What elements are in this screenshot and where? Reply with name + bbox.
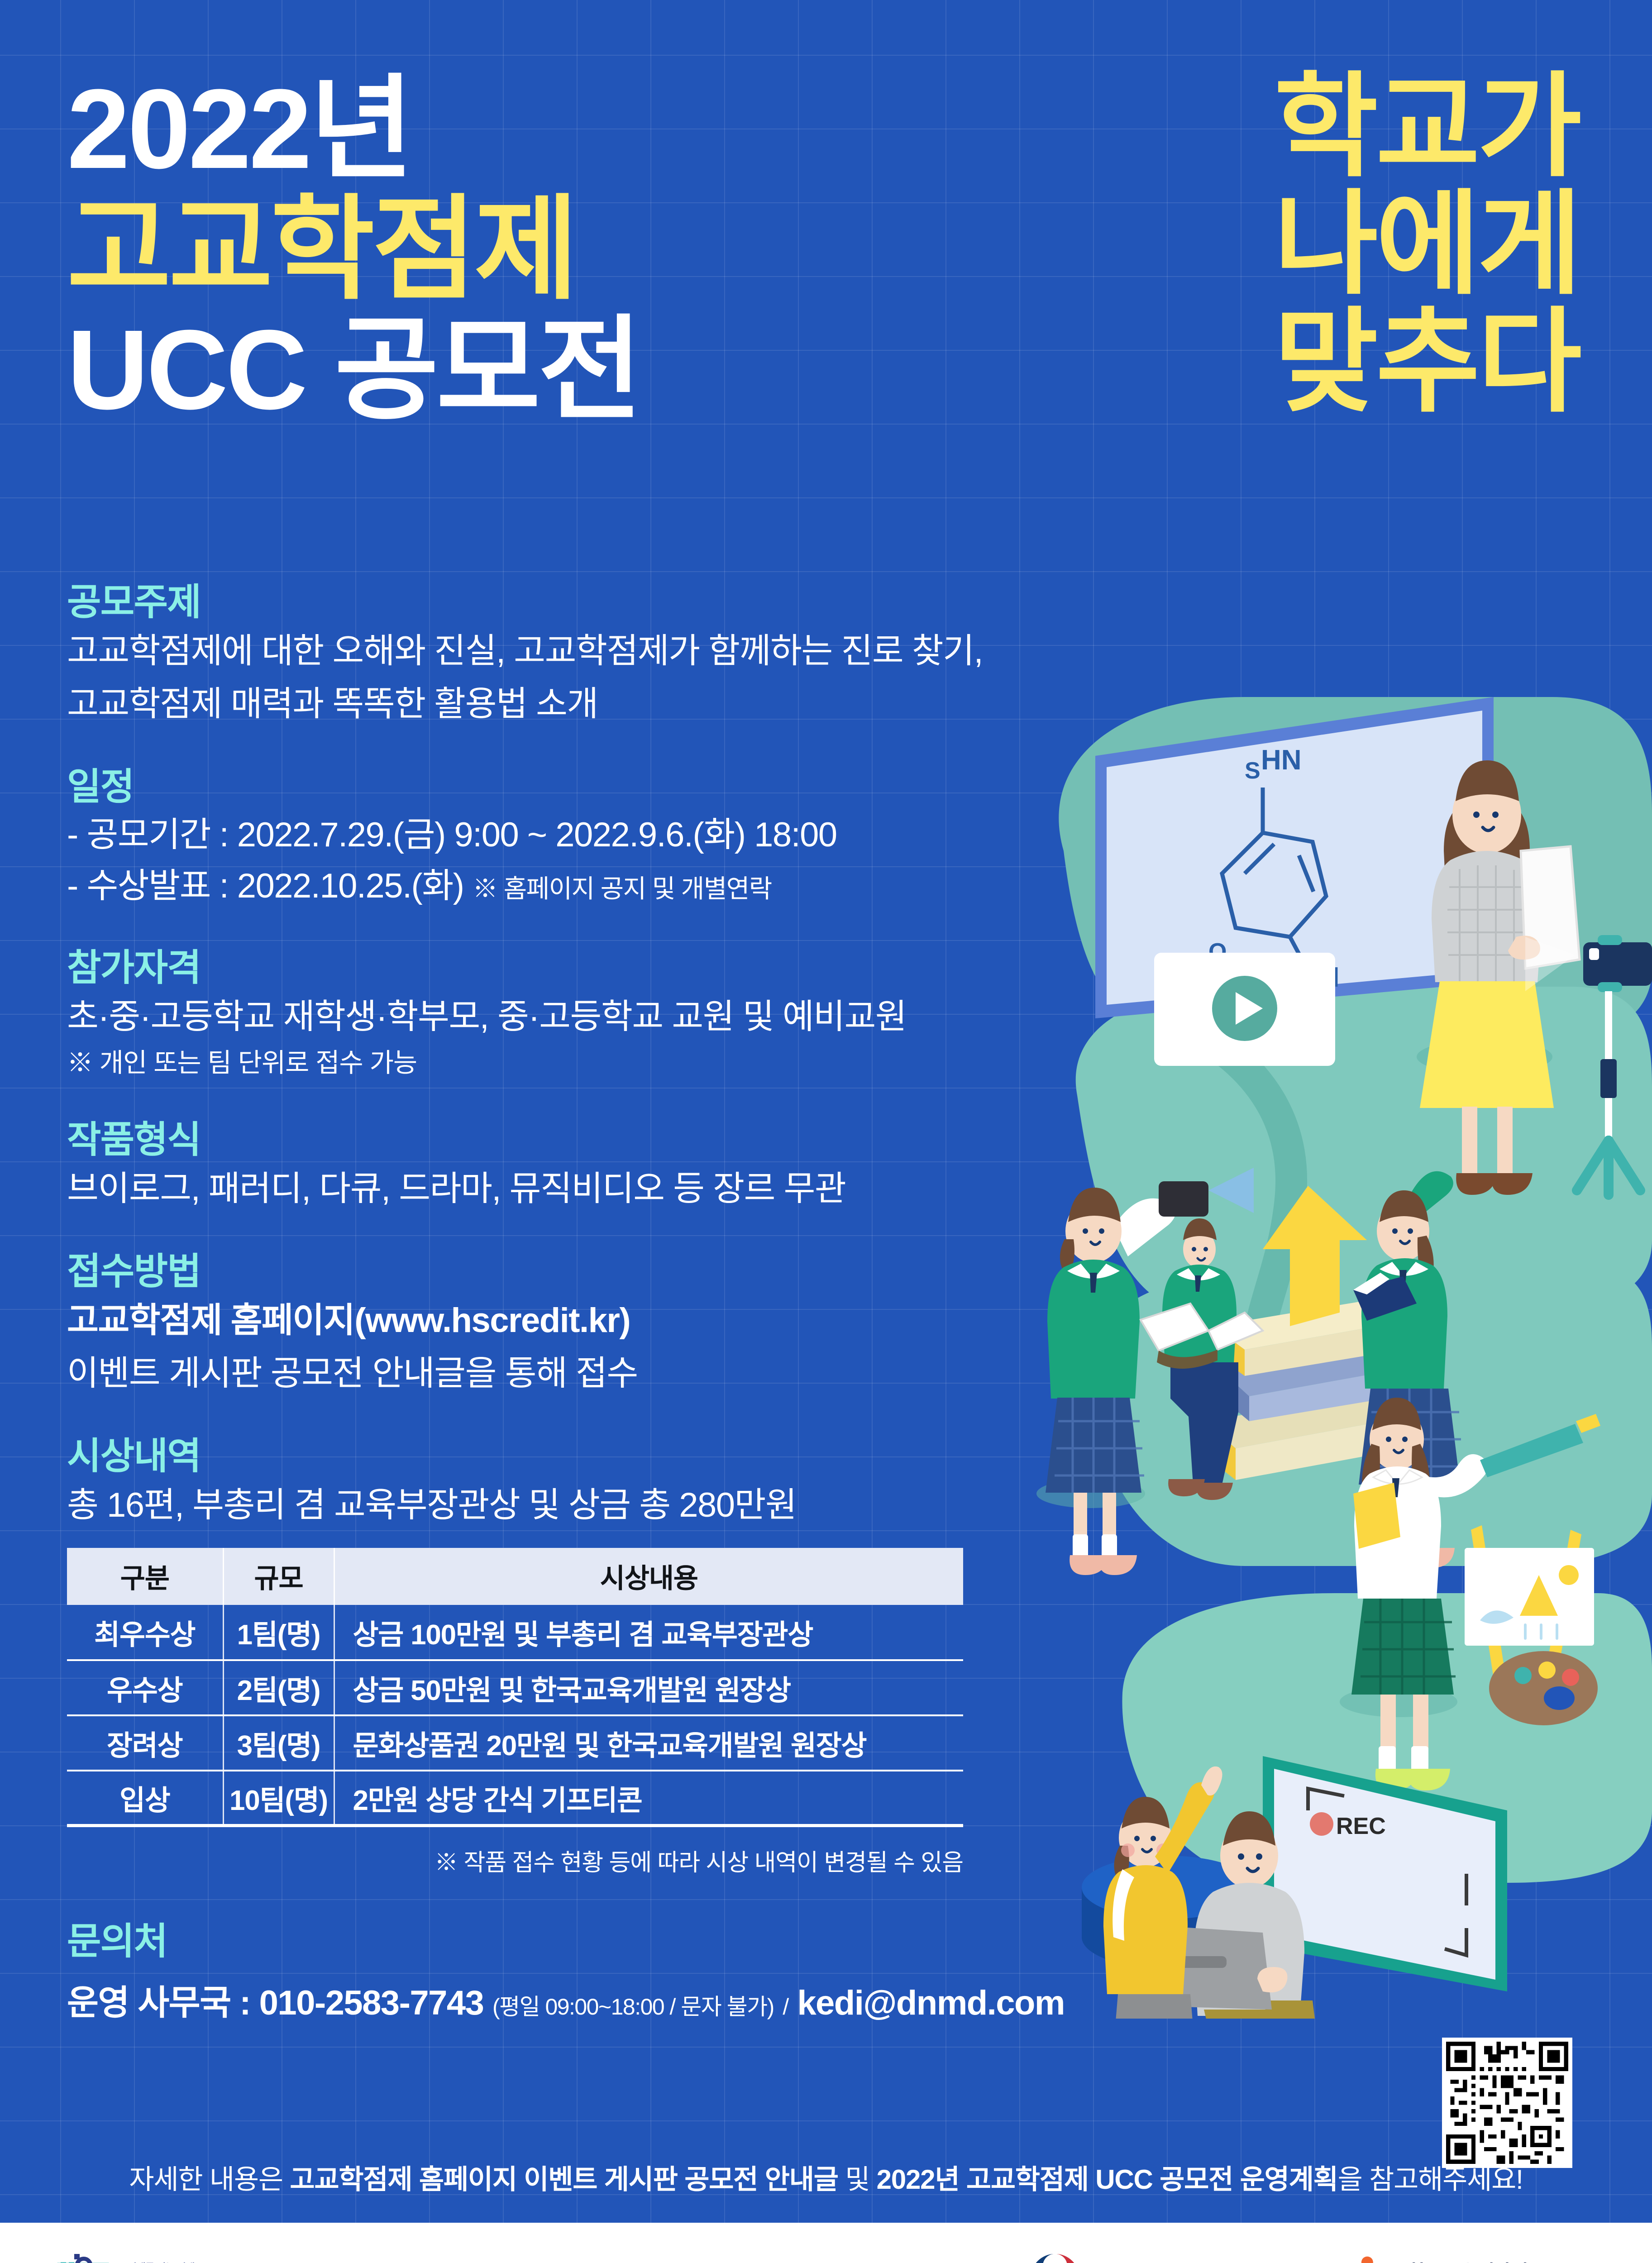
section-eligibility: 참가자격 초·중·고등학교 재학생·학부모, 중·고등학교 교원 및 예비교원 … <box>67 950 1090 1080</box>
title-line-program: 고교학점제 <box>67 193 640 306</box>
footer-left-logo: 미래를 여는 선택 고교학점제 <box>50 2244 226 2263</box>
section-submission-url: 고교학점제 홈페이지(www.hscredit.kr) <box>67 1299 1090 1343</box>
slogan-line-3: 맞추다 <box>1274 303 1580 421</box>
taegeuk-icon <box>1028 2252 1082 2263</box>
title-line-contest: UCC 공모전 <box>67 313 640 426</box>
svg-text:REC: REC <box>1336 1813 1386 1839</box>
prize-category: 우수상 <box>67 1660 223 1715</box>
table-col-header-quantity: 규모 <box>223 1548 334 1605</box>
svg-text:HN: HN <box>1261 745 1302 776</box>
prize-detail: 2만원 상당 간식 기프티콘 <box>334 1771 963 1826</box>
svg-text:O: O <box>1208 939 1227 965</box>
spacer <box>67 908 1090 950</box>
section-prizes-summary: 총 16편, 부총리 겸 교육부장관상 및 상금 총 280만원 <box>67 1483 1090 1528</box>
slogan-block: 학교가 나에게 맞추다 <box>1274 68 1580 421</box>
main-title-left: 2022년 고교학점제 UCC 공모전 <box>67 72 640 426</box>
schedule-announce-note: ※ 홈페이지 공지 및 개별연락 <box>473 874 772 903</box>
contact-email[interactable]: kedi@dnmd.com <box>797 1984 1065 2022</box>
table-col-header-detail: 시상내용 <box>334 1548 963 1605</box>
section-theme-heading: 공모주제 <box>67 584 1090 621</box>
slogan-line-1: 학교가 <box>1274 68 1580 186</box>
prize-detail: 상금 100만원 및 부총리 겸 교육부장관상 <box>334 1605 963 1660</box>
footer-logo-tagline: 미래를 여는 선택 <box>128 2260 226 2263</box>
kedi-person-icon <box>1347 2252 1400 2263</box>
prize-quantity: 1팀(명) <box>223 1605 334 1660</box>
spacer <box>67 1396 1090 1438</box>
footer-left-logo-text: 미래를 여는 선택 고교학점제 <box>128 2260 226 2263</box>
spacer <box>67 1212 1090 1253</box>
illustration-artwork: S HN NH O <box>1009 561 1652 2019</box>
section-contact: 문의처 운영 사무국 : 010-2583-7743 (평일 09:00~18:… <box>67 1911 1090 2024</box>
section-prizes-heading: 시상내역 <box>67 1438 1090 1475</box>
section-contact-heading: 문의처 <box>67 1911 1090 1965</box>
prize-category: 입상 <box>67 1771 223 1826</box>
bottom-banner-text: 자세한 내용은 고교학점제 홈페이지 이벤트 게시판 공모전 안내글 및 202… <box>129 2158 1523 2197</box>
poster-header: 2022년 고교학점제 UCC 공모전 학교가 나에게 맞추다 <box>0 0 1652 548</box>
prize-table-wrapper: 구분 규모 시상내용 최우수상 1팀(명) 상금 100만원 및 부총리 겸 교… <box>67 1548 963 1878</box>
section-prizes: 시상내역 총 16편, 부총리 겸 교육부장관상 및 상금 총 280만원 구분… <box>67 1438 1090 1877</box>
section-schedule-heading: 일정 <box>67 769 1090 806</box>
prize-quantity: 3팀(명) <box>223 1715 334 1771</box>
section-submission-heading: 접수방법 <box>67 1253 1090 1290</box>
svg-text:S: S <box>1245 758 1260 784</box>
table-row: 우수상 2팀(명) 상금 50만원 및 한국교육개발원 원장상 <box>67 1660 963 1715</box>
section-contact-line: 운영 사무국 : 010-2583-7743 (평일 09:00~18:00 /… <box>67 1975 1090 2024</box>
svg-text:NH: NH <box>1299 962 1340 993</box>
section-eligibility-line: 초·중·고등학교 재학생·학부모, 중·고등학교 교원 및 예비교원 <box>67 995 1090 1040</box>
prize-detail: 문화상품권 20만원 및 한국교육개발원 원장상 <box>334 1715 963 1771</box>
section-submission: 접수방법 고교학점제 홈페이지(www.hscredit.kr) 이벤트 게시판… <box>67 1253 1090 1396</box>
prize-category: 최우수상 <box>67 1605 223 1660</box>
schedule-announce-main: - 수상발표 : 2022.10.25.(화) <box>67 867 464 905</box>
table-row: 입상 10팀(명) 2만원 상당 간식 기프티콘 <box>67 1771 963 1826</box>
footer-right-logos: 교육부 17개 시·도교육청 한국교육개발원 KOREAN EDUCATIONA… <box>1028 2252 1598 2263</box>
prize-quantity: 10팀(명) <box>223 1771 334 1826</box>
prize-detail: 상금 50만원 및 한국교육개발원 원장상 <box>334 1660 963 1715</box>
section-format: 작품형식 브이로그, 패러디, 다큐, 드라마, 뮤직비디오 등 장르 무관 <box>67 1122 1090 1212</box>
table-row: 장려상 3팀(명) 문화상품권 20만원 및 한국교육개발원 원장상 <box>67 1715 963 1771</box>
schedule-period: - 공모기간 : 2022.7.29.(금) 9:00 ~ 2022.9.6.(… <box>67 813 1090 857</box>
bottom-banner: 자세한 내용은 고교학점제 홈페이지 이벤트 게시판 공모전 안내글 및 202… <box>0 2147 1652 2207</box>
table-header-row: 구분 규모 시상내용 <box>67 1548 963 1605</box>
table-row: 최우수상 1팀(명) 상금 100만원 및 부총리 겸 교육부장관상 <box>67 1605 963 1660</box>
slogan-line-2: 나에게 <box>1274 186 1580 303</box>
banner-prefix: 자세한 내용은 <box>129 2164 290 2195</box>
banner-bold-2: 2022년 고교학점제 UCC 공모전 운영계획 <box>877 2164 1338 2195</box>
contact-hours: (평일 09:00~18:00 / 문자 불가) <box>492 1994 774 2020</box>
section-format-heading: 작품형식 <box>67 1122 1090 1159</box>
poster-footer: 미래를 여는 선택 고교학점제 교육부 17개 시·도교육청 <box>0 2223 1652 2263</box>
banner-bold-1: 고교학점제 홈페이지 이벤트 게시판 공모전 안내글 <box>290 2164 838 2195</box>
poster-root: S HN NH O <box>0 0 1652 2263</box>
section-eligibility-heading: 참가자격 <box>67 950 1090 987</box>
section-eligibility-note: ※ 개인 또는 팀 단위로 접수 가능 <box>67 1046 1090 1080</box>
prize-category: 장려상 <box>67 1715 223 1771</box>
contact-separator: / <box>783 1994 788 2020</box>
title-line-year: 2022년 <box>67 72 640 186</box>
section-format-line: 브이로그, 패러디, 다큐, 드라마, 뮤직비디오 등 장르 무관 <box>67 1167 1090 1212</box>
contact-phone[interactable]: 운영 사무국 : 010-2583-7743 <box>67 1984 483 2022</box>
section-schedule: 일정 - 공모기간 : 2022.7.29.(금) 9:00 ~ 2022.9.… <box>67 769 1090 908</box>
banner-suffix: 을 참고해주세요! <box>1338 2164 1523 2195</box>
prize-quantity: 2팀(명) <box>223 1660 334 1715</box>
section-submission-howto: 이벤트 게시판 공모전 안내글을 통해 접수 <box>67 1351 1090 1396</box>
spacer <box>67 727 1090 769</box>
hscredit-logo-icon <box>50 2244 118 2263</box>
prize-table: 구분 규모 시상내용 최우수상 1팀(명) 상금 100만원 및 부총리 겸 교… <box>67 1548 963 1828</box>
table-col-header-category: 구분 <box>67 1548 223 1605</box>
banner-middle: 및 <box>838 2164 877 2195</box>
poster-content: 공모주제 고교학점제에 대한 오해와 진실, 고교학점제가 함께하는 진로 찾기… <box>67 584 1090 2024</box>
footer-logo-kedi: 한국교육개발원 KOREAN EDUCATIONAL DEVELOPMENT I… <box>1347 2252 1598 2263</box>
spacer <box>67 1080 1090 1122</box>
section-theme-line-2: 고교학점제 매력과 똑똑한 활용법 소개 <box>67 682 1090 727</box>
prize-table-note: ※ 작품 접수 현황 등에 따라 시상 내역이 변경될 수 있음 <box>67 1843 963 1877</box>
footer-logo-moe: 교육부 <box>1028 2252 1146 2263</box>
section-theme: 공모주제 고교학점제에 대한 오해와 진실, 고교학점제가 함께하는 진로 찾기… <box>67 584 1090 727</box>
schedule-announce: - 수상발표 : 2022.10.25.(화) ※ 홈페이지 공지 및 개별연락 <box>67 864 1090 908</box>
section-theme-line-1: 고교학점제에 대한 오해와 진실, 고교학점제가 함께하는 진로 찾기, <box>67 629 1090 674</box>
